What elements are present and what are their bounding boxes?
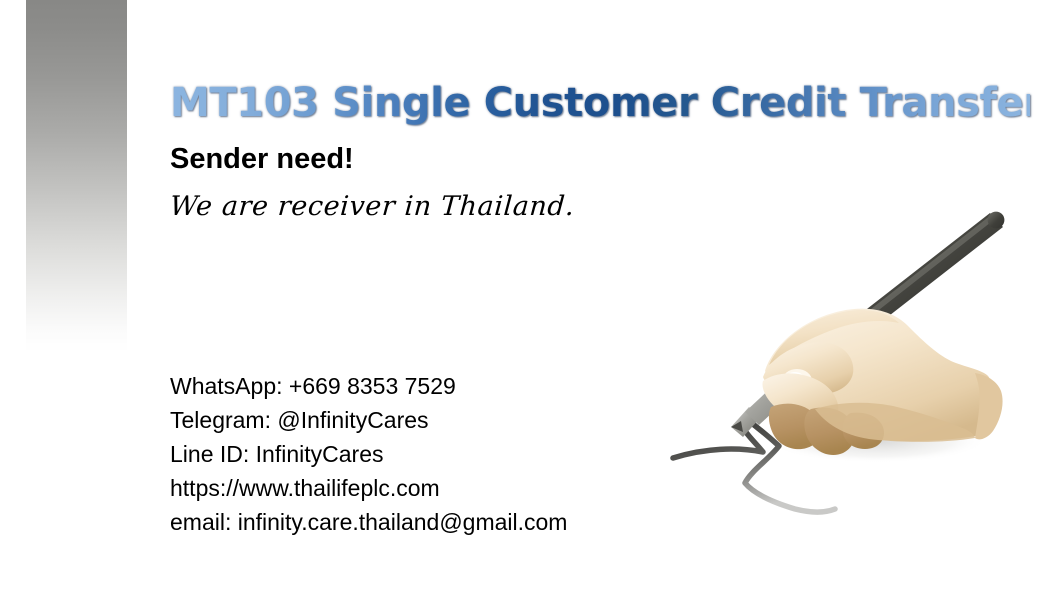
page-title: MT103 Single Customer Credit Transfer xyxy=(170,78,1030,128)
contact-line-lineid[interactable]: Line ID: InfinityCares xyxy=(170,437,567,471)
headline-text: Sender need! xyxy=(170,143,354,176)
contact-line-email[interactable]: email: infinity.care.thailand@gmail.com xyxy=(170,505,567,539)
slide-canvas: MT103 Single Customer Credit Transfer Se… xyxy=(0,0,1063,600)
contact-line-whatsapp[interactable]: WhatsApp: +669 8353 7529 xyxy=(170,369,567,403)
contact-details-block: WhatsApp: +669 8353 7529 Telegram: @Infi… xyxy=(170,369,567,539)
script-subtitle-text: We are receiver in Thailand. xyxy=(169,191,576,222)
contact-line-telegram[interactable]: Telegram: @InfinityCares xyxy=(170,403,567,437)
contact-line-website[interactable]: https://www.thailifeplc.com xyxy=(170,471,567,505)
decorative-gradient-bar xyxy=(26,0,127,352)
page-title-container: MT103 Single Customer Credit Transfer xyxy=(170,78,1030,134)
hand-writing-with-pen-illustration xyxy=(645,195,1045,535)
pen-top-cap xyxy=(988,212,1005,229)
